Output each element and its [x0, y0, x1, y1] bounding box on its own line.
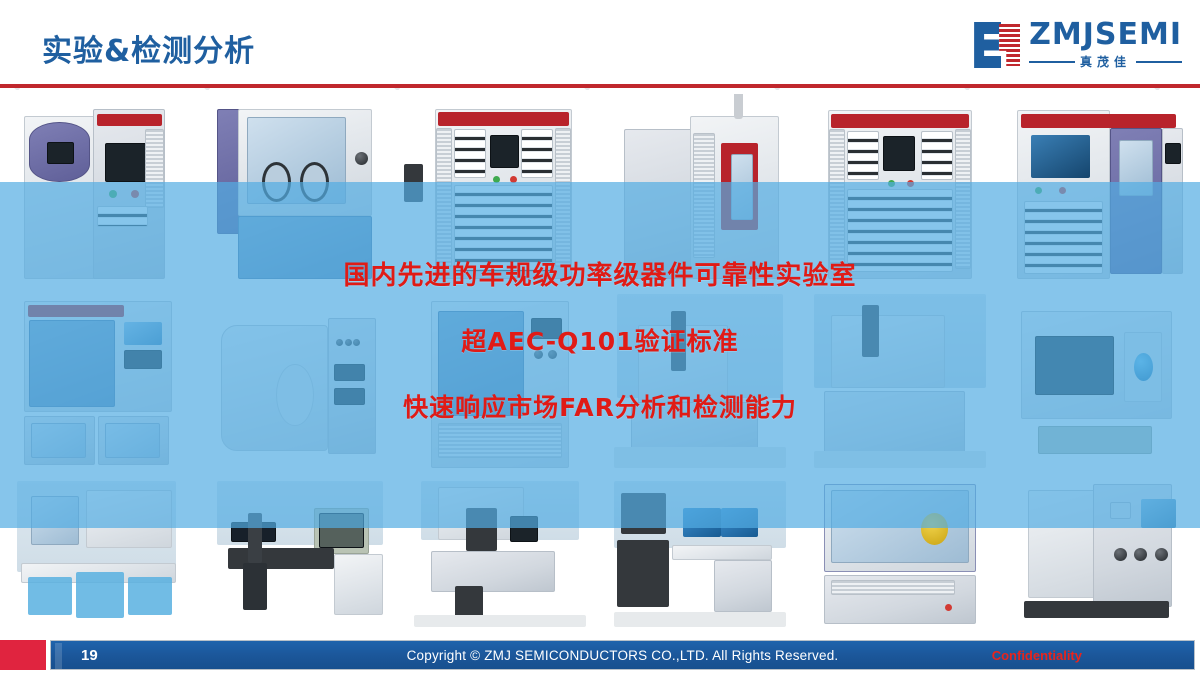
- confidentiality-label: Confidentiality: [992, 641, 1082, 671]
- zmj-e-mark-icon: [974, 22, 1020, 68]
- headline-line-2: 超AEC-Q101验证标准: [0, 322, 1200, 358]
- logo-wordmark: ZMJSEMI 真茂佳: [1029, 20, 1182, 70]
- slide-footer: 19 Copyright © ZMJ SEMICONDUCTORS CO.,LT…: [0, 635, 1200, 675]
- logo-dash-right-icon: [1136, 61, 1182, 63]
- logo-stripe-bars-icon: [999, 24, 1020, 66]
- logo-brand-text: ZMJSEMI: [1029, 20, 1182, 50]
- footer-red-marker: [0, 640, 46, 670]
- logo-subbrand-row: 真茂佳: [1029, 53, 1182, 70]
- title-divider-rule: [0, 84, 1200, 88]
- footer-blue-bar: 19 Copyright © ZMJ SEMICONDUCTORS CO.,LT…: [50, 640, 1195, 670]
- company-logo: ZMJSEMI 真茂佳: [974, 18, 1182, 72]
- logo-e-shape-icon: [974, 22, 1001, 68]
- page-title: 实验&检测分析: [42, 26, 255, 70]
- headline-line-1: 国内先进的车规级功率级器件可靠性实验室: [0, 255, 1200, 292]
- logo-dash-left-icon: [1029, 61, 1075, 63]
- headline-block: 国内先进的车规级功率级器件可靠性实验室 超AEC-Q101验证标准 快速响应市场…: [0, 255, 1200, 424]
- headline-line-3: 快速响应市场FAR分析和检测能力: [0, 388, 1200, 424]
- logo-subbrand-text: 真茂佳: [1080, 53, 1131, 70]
